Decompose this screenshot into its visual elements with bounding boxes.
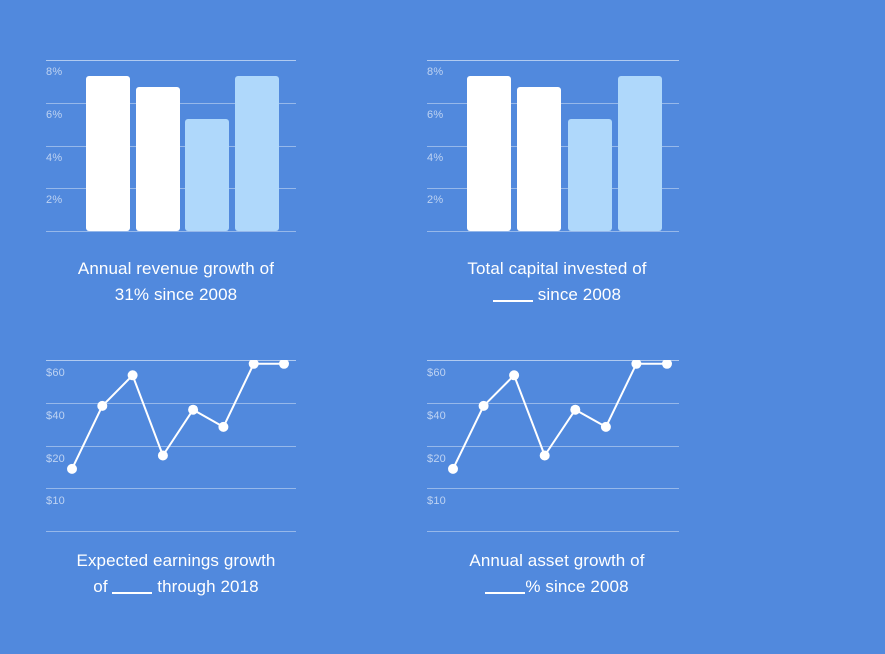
panel-expected-earnings-growth: $60$40$20$10 Expected earnings growth of… <box>46 360 306 610</box>
bar <box>86 76 130 231</box>
y-axis-tick-label: 6% <box>46 109 62 121</box>
gridline <box>46 60 296 61</box>
caption-line-2-prefix: of <box>93 577 112 596</box>
caption-line-1: Annual asset growth of <box>427 548 687 574</box>
y-axis-tick-label: 2% <box>46 194 62 206</box>
caption-line-2-suffix: through 2018 <box>152 577 258 596</box>
y-axis-tick-label: 4% <box>427 152 443 164</box>
bar <box>136 87 180 231</box>
data-point-marker <box>279 360 289 369</box>
line-path <box>72 364 284 469</box>
y-axis-tick-label: 2% <box>427 194 443 206</box>
data-point-marker <box>540 451 550 461</box>
caption-line-1: Total capital invested of <box>427 256 687 282</box>
data-point-marker <box>97 401 107 411</box>
data-point-marker <box>158 451 168 461</box>
line-path <box>453 364 667 469</box>
bar-chart-plot-area: 8%6%4%2% <box>46 60 296 232</box>
gridline <box>427 60 679 61</box>
data-point-marker <box>67 464 77 474</box>
panel-total-capital-invested: 8%6%4%2% Total capital invested of since… <box>427 60 687 310</box>
bar <box>618 76 662 231</box>
line-series <box>427 360 679 532</box>
line-chart-plot-area: $60$40$20$10 <box>46 360 296 532</box>
bar <box>568 119 612 231</box>
caption-line-2-suffix: % since 2008 <box>525 577 628 596</box>
caption-line-2: % since 2008 <box>427 574 687 600</box>
caption-expected-earnings-growth: Expected earnings growth of through 2018 <box>46 548 306 600</box>
data-point-marker <box>631 360 641 369</box>
caption-line-2: of through 2018 <box>46 574 306 600</box>
data-point-marker <box>479 401 489 411</box>
caption-line-2-text: since 2008 <box>533 285 621 304</box>
y-axis-tick-label: 4% <box>46 152 62 164</box>
bar <box>235 76 279 231</box>
data-point-marker <box>509 370 519 380</box>
blank-underline <box>485 578 525 594</box>
y-axis-tick-label: 8% <box>46 66 62 78</box>
blank-underline <box>112 578 152 594</box>
caption-line-2-text: 31% since 2008 <box>115 285 237 304</box>
infographic-board: 8%6%4%2% Annual revenue growth of 31% si… <box>0 0 885 654</box>
blank-underline <box>493 286 533 302</box>
bar <box>517 87 561 231</box>
caption-annual-revenue-growth: Annual revenue growth of 31% since 2008 <box>46 256 306 308</box>
caption-line-1: Annual revenue growth of <box>46 256 306 282</box>
bar <box>467 76 511 231</box>
y-axis-tick-label: 8% <box>427 66 443 78</box>
caption-line-2: 31% since 2008 <box>46 282 306 308</box>
caption-annual-asset-growth: Annual asset growth of % since 2008 <box>427 548 687 600</box>
caption-total-capital-invested: Total capital invested of since 2008 <box>427 256 687 308</box>
caption-line-2: since 2008 <box>427 282 687 308</box>
panel-annual-revenue-growth: 8%6%4%2% Annual revenue growth of 31% si… <box>46 60 306 310</box>
data-point-marker <box>188 405 198 415</box>
bar <box>185 119 229 231</box>
bar-chart-plot-area: 8%6%4%2% <box>427 60 679 232</box>
caption-line-1: Expected earnings growth <box>46 548 306 574</box>
panel-annual-asset-growth: $60$40$20$10 Annual asset growth of % si… <box>427 360 687 610</box>
y-axis-tick-label: 6% <box>427 109 443 121</box>
data-point-marker <box>448 464 458 474</box>
gridline <box>46 231 296 232</box>
data-point-marker <box>218 422 228 432</box>
data-point-marker <box>601 422 611 432</box>
data-point-marker <box>128 370 138 380</box>
data-point-marker <box>249 360 259 369</box>
gridline <box>427 231 679 232</box>
line-series <box>46 360 296 532</box>
line-chart-plot-area: $60$40$20$10 <box>427 360 679 532</box>
data-point-marker <box>570 405 580 415</box>
data-point-marker <box>662 360 672 369</box>
